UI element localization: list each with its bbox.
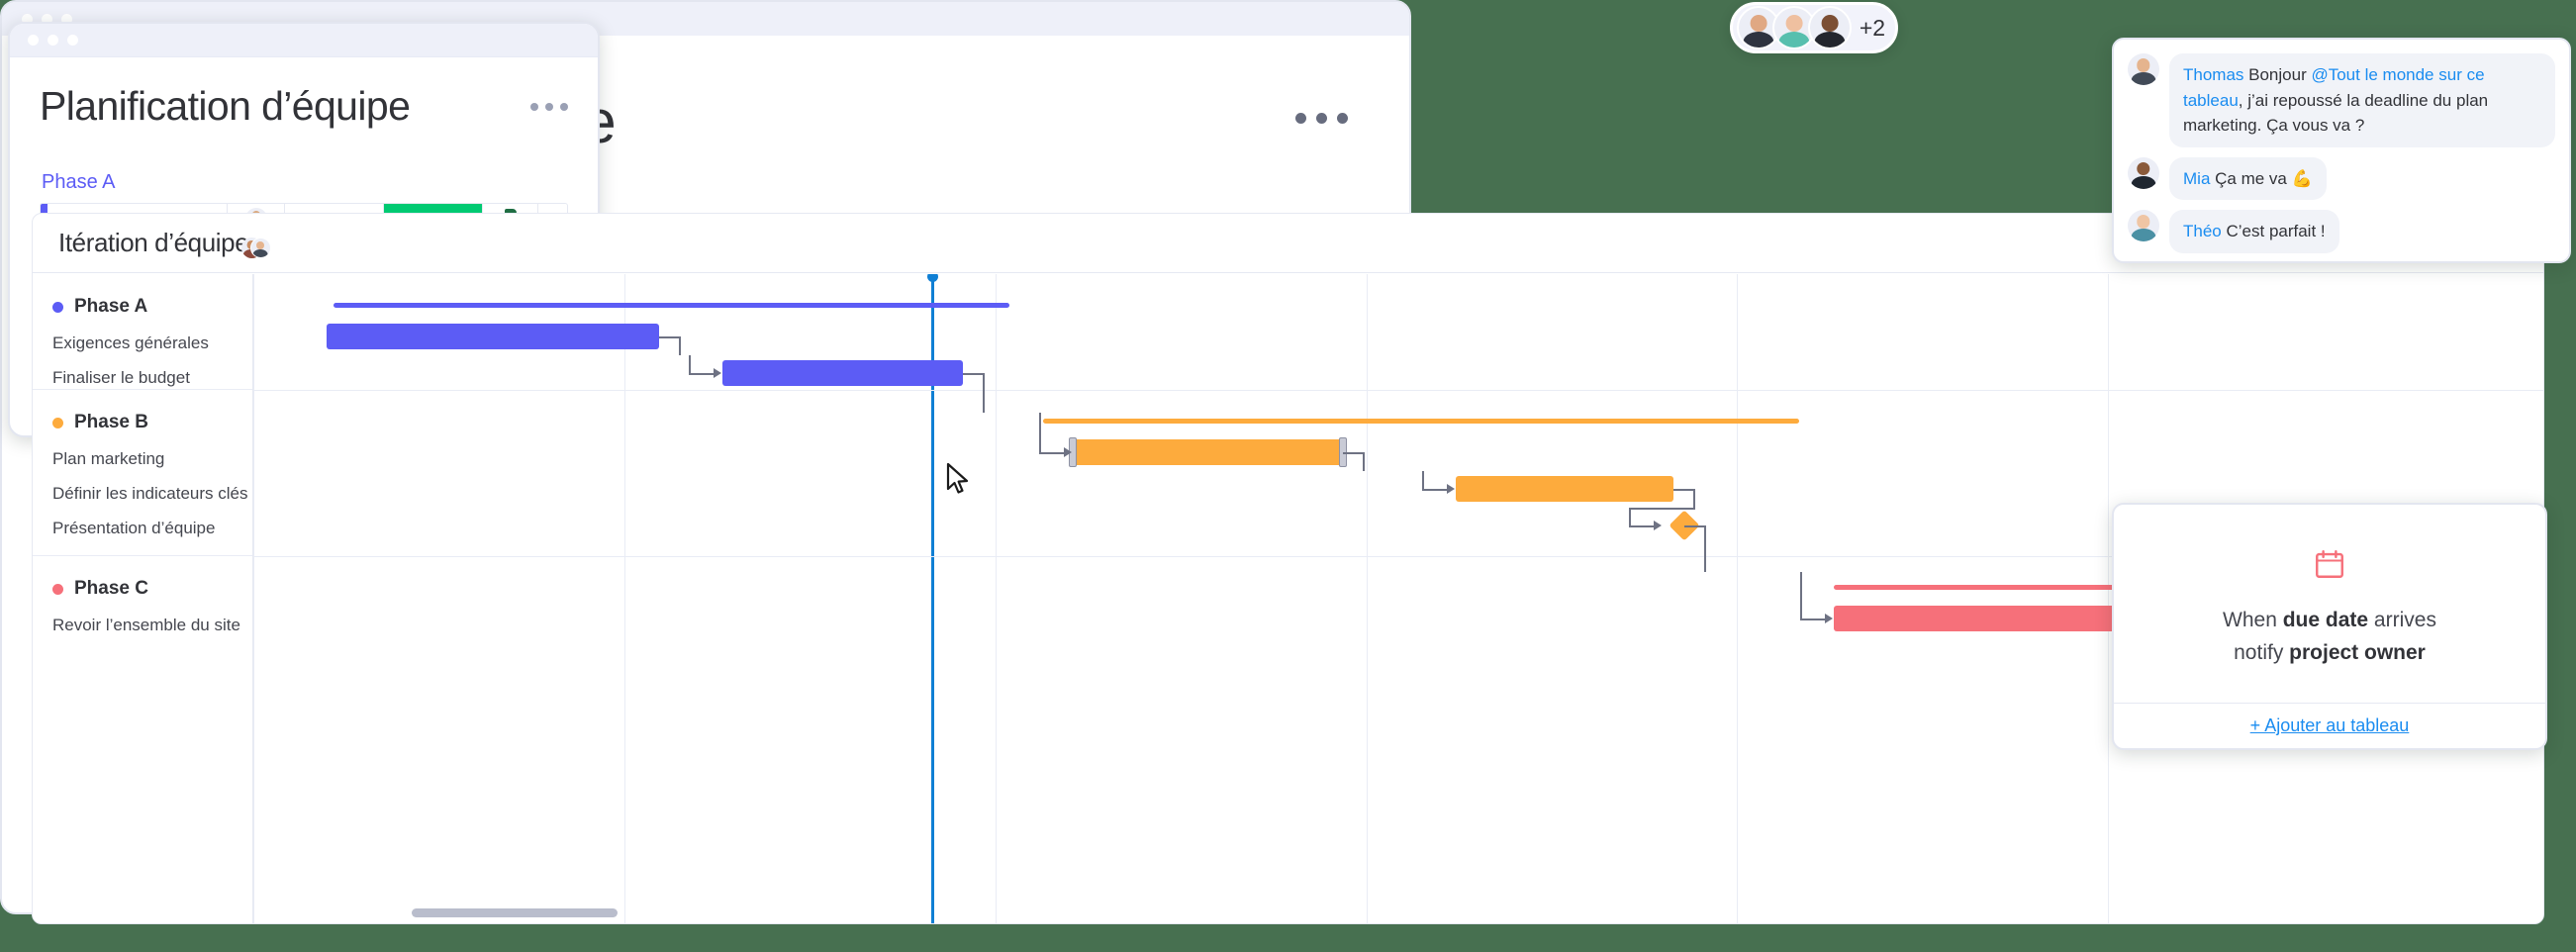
dependency-arrowhead-icon: [1064, 447, 1072, 457]
phase-color-dot-icon: [52, 584, 63, 595]
avatar-pair[interactable]: [241, 238, 271, 259]
comment-text: Bonjour: [2248, 65, 2311, 84]
automation-line2-prefix: notify: [2234, 641, 2289, 664]
board-header: Planification d’équipe: [10, 57, 598, 130]
dependency-segment: [1039, 452, 1065, 454]
gantt-title: Itération d’équipe: [58, 228, 248, 258]
gantt-summary-bar[interactable]: [334, 303, 1009, 308]
comment-item: Thomas Bonjour @Tout le monde sur ce tab…: [2128, 53, 2555, 147]
comment-author[interactable]: Théo: [2183, 222, 2226, 240]
calendar-icon: [2313, 547, 2346, 581]
gantt-phase-title[interactable]: Phase A: [52, 296, 252, 318]
dependency-segment: [963, 373, 985, 375]
today-marker-dot-icon: [927, 274, 938, 282]
gantt-task-bar[interactable]: [722, 360, 963, 386]
gantt-task-label[interactable]: Plan marketing: [52, 449, 252, 469]
gantt-task-bar[interactable]: [327, 324, 659, 349]
avatar-group[interactable]: +2: [1730, 2, 1898, 53]
gantt-row-divider: [253, 556, 1411, 557]
phase-color-dot-icon: [52, 418, 63, 428]
comment-bubble[interactable]: Mia Ça me va 💪: [2169, 157, 2327, 201]
gantt-label-column: Phase AExigences généralesFinaliser le b…: [33, 274, 253, 914]
comment-bubble[interactable]: Thomas Bonjour @Tout le monde sur ce tab…: [2169, 53, 2555, 147]
dependency-segment: [983, 373, 985, 413]
gantt-grid-line: [996, 274, 997, 914]
gantt-task-label[interactable]: Revoir l’ensemble du site: [52, 616, 252, 635]
comment-text: C’est parfait !: [2226, 222, 2325, 240]
canvas: Planification d’équipe Phase APhase B Fa…: [0, 0, 2576, 952]
automation-line1-suffix: arrives: [2368, 609, 2436, 631]
dependency-arrowhead-icon: [714, 368, 721, 378]
gantt-phase-block: Phase CRevoir l’ensemble du site: [33, 556, 252, 683]
gantt-task-label[interactable]: Finaliser le budget: [52, 368, 252, 388]
horizontal-scrollbar[interactable]: [412, 908, 618, 914]
dependency-segment: [659, 336, 681, 338]
gantt-grid-line: [1367, 274, 1368, 914]
gantt-task-label[interactable]: Exigences générales: [52, 333, 252, 353]
window-dot-minimize-icon[interactable]: [48, 35, 58, 46]
gantt-grid-line: [253, 274, 254, 914]
phase-label: Phase C: [74, 578, 148, 600]
dependency-segment: [679, 336, 681, 355]
avatar[interactable]: [250, 238, 271, 258]
board-ellipsis-icon[interactable]: [530, 103, 568, 111]
automation-footer: + Ajouter au tableau: [2114, 703, 2545, 748]
automation-body: When due date arrives notify project own…: [2114, 505, 2545, 703]
automation-card: When due date arrives notify project own…: [2112, 503, 2547, 750]
dependency-segment: [689, 355, 691, 374]
dependency-segment: [1343, 452, 1365, 454]
avatar[interactable]: [1808, 6, 1852, 49]
gantt-task-bar-selected[interactable]: [1073, 439, 1343, 465]
window-dot-maximize-icon[interactable]: [67, 35, 78, 46]
window-dot-close-icon[interactable]: [28, 35, 39, 46]
gantt-phase-block: Phase BPlan marketingDéfinir les indicat…: [33, 390, 252, 556]
board-title: Planification d’équipe: [40, 83, 410, 130]
dependency-segment: [1363, 452, 1365, 471]
add-to-board-link[interactable]: + Ajouter au tableau: [2250, 715, 2410, 736]
dependency-segment: [1039, 413, 1041, 452]
comments-card: Thomas Bonjour @Tout le monde sur ce tab…: [2112, 38, 2571, 263]
comment-author[interactable]: Mia: [2183, 169, 2215, 188]
comment-author[interactable]: Thomas: [2183, 65, 2248, 84]
automation-line1-prefix: When: [2223, 609, 2283, 631]
gantt-summary-bar[interactable]: [1043, 419, 1411, 424]
comment-text: Ça me va 💪: [2215, 169, 2313, 188]
avatar[interactable]: [2128, 157, 2159, 189]
phase-color-dot-icon: [52, 302, 63, 313]
gantt-task-label[interactable]: Présentation d’équipe: [52, 519, 252, 538]
gantt-header: Itération d’équipe: [33, 214, 1411, 273]
mouse-pointer-icon: [945, 462, 971, 496]
gantt-row-divider: [253, 390, 1411, 391]
gantt-body: Phase AExigences généralesFinaliser le b…: [33, 274, 1411, 914]
gantt-timeline[interactable]: [253, 274, 1411, 914]
gantt-phase-title[interactable]: Phase C: [52, 578, 252, 600]
comments-list: Thomas Bonjour @Tout le monde sur ce tab…: [2114, 40, 2569, 263]
avatar[interactable]: [2128, 53, 2159, 85]
comment-item: Théo C’est parfait !: [2128, 210, 2555, 253]
gantt-task-label[interactable]: Définir les indicateurs clés: [52, 484, 252, 504]
phase-label: Phase B: [74, 412, 148, 433]
avatar[interactable]: [2128, 210, 2159, 241]
gantt-phase-block: Phase AExigences généralesFinaliser le b…: [33, 274, 252, 390]
gantt-grid-line: [624, 274, 625, 914]
board-window-titlebar: [10, 24, 598, 57]
automation-trigger: due date: [2283, 609, 2368, 631]
comment-item: Mia Ça me va 💪: [2128, 157, 2555, 201]
comment-bubble[interactable]: Théo C’est parfait !: [2169, 210, 2339, 253]
dependency-segment: [689, 373, 715, 375]
gantt-phase-title[interactable]: Phase B: [52, 412, 252, 433]
main-ellipsis-icon[interactable]: [1295, 113, 1348, 124]
phase-label: Phase A: [74, 296, 147, 318]
automation-action: project owner: [2289, 641, 2426, 664]
gantt-panel: Itération d’équipe Phase AExigences géné…: [32, 213, 1411, 914]
board-group-label: Phase A: [42, 171, 568, 194]
automation-recipe-text: When due date arrives notify project own…: [2223, 605, 2436, 669]
